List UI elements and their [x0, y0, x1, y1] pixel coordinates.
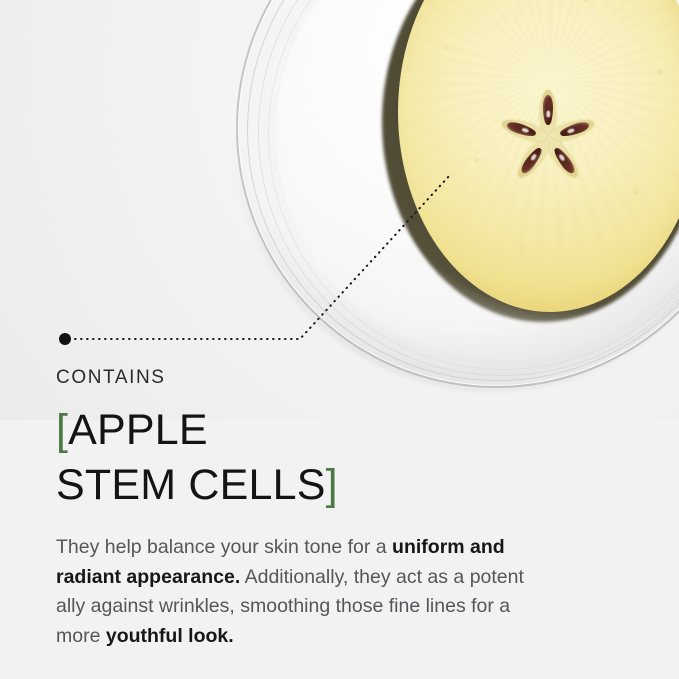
- headline-line-2: STEM CELLS: [56, 461, 326, 509]
- benefit-text-block: CONTAINS [APPLE STEM CELLS] They help ba…: [56, 368, 576, 651]
- closing-bracket: ]: [326, 461, 338, 509]
- benefit-description: They help balance your skin tone for a u…: [56, 533, 556, 652]
- seed-highlight: [530, 154, 537, 162]
- body-emphasis: youthful look.: [106, 625, 234, 647]
- seed-highlight: [546, 110, 549, 117]
- body-emphasis: uniform and radiant appearance.: [56, 536, 505, 588]
- product-benefit-infographic: CONTAINS [APPLE STEM CELLS] They help ba…: [0, 0, 679, 679]
- eyebrow-label: CONTAINS: [56, 368, 576, 389]
- seed-highlight: [567, 128, 575, 133]
- page-title: [APPLE STEM CELLS]: [56, 403, 576, 513]
- callout-marker-dot: [59, 333, 71, 345]
- product-photo-scene: [0, 0, 679, 420]
- seed-highlight: [521, 128, 529, 133]
- opening-bracket: [: [56, 406, 68, 454]
- apple-seed: [543, 95, 553, 125]
- headline-line-1: APPLE: [68, 406, 208, 454]
- seed-highlight: [559, 154, 566, 162]
